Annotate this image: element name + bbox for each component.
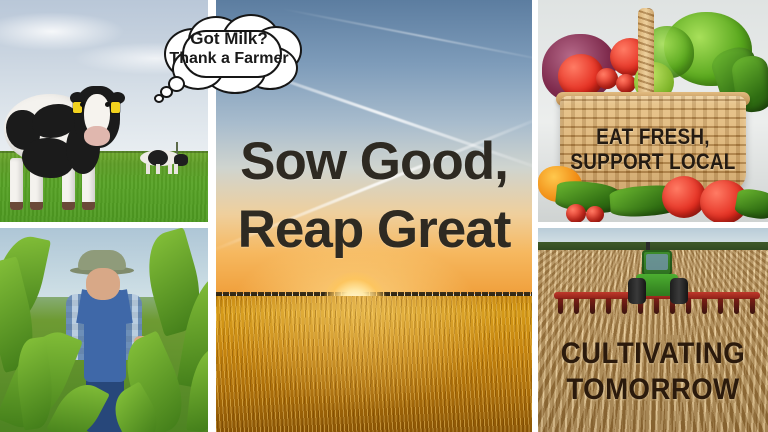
bubble-text: Got Milk? Thank a Farmer (158, 28, 300, 69)
tractor-icon (626, 250, 688, 308)
veg-line-2: SUPPORT LOCAL (554, 149, 752, 174)
cherry-tomato-icon (586, 206, 604, 222)
panel-farmer-corn[interactable]: GROWING OUR FUTURE (0, 228, 208, 432)
background-cow-icon (140, 148, 192, 172)
cherry-tomato-icon (596, 68, 618, 89)
tractor-overlay-text: CULTIVATING TOMORROW (538, 336, 768, 408)
cherry-tomato-icon (616, 74, 636, 93)
slogan-collage: GROWING OUR FUTURE Sow Good, Reap Great (0, 0, 768, 432)
bubble-line-2: Thank a Farmer (158, 49, 300, 69)
center-headline: Sow Good, Reap Great (216, 128, 532, 264)
headline-line-2: Reap Great (216, 196, 532, 264)
tractor-line-1: CULTIVATING (547, 336, 759, 372)
tractor-line-2: TOMORROW (547, 372, 759, 408)
bubble-dot (154, 94, 164, 103)
headline-line-1: Sow Good, (216, 128, 532, 196)
panel-vegetable-basket[interactable]: EAT FRESH, SUPPORT LOCAL (538, 0, 768, 222)
panel-tractor-field[interactable]: CULTIVATING TOMORROW (538, 228, 768, 432)
wheat-field (216, 296, 532, 432)
basket-handle (638, 8, 654, 100)
veg-overlay-text: EAT FRESH, SUPPORT LOCAL (538, 124, 768, 174)
corn-leaves (0, 228, 208, 432)
thought-bubble: Got Milk? Thank a Farmer (158, 14, 300, 98)
cherry-tomato-icon (566, 204, 586, 222)
holstein-cow-icon (4, 80, 124, 212)
tomato-icon (662, 176, 706, 218)
bubble-line-1: Got Milk? (158, 28, 300, 49)
veg-line-1: EAT FRESH, (554, 124, 752, 149)
